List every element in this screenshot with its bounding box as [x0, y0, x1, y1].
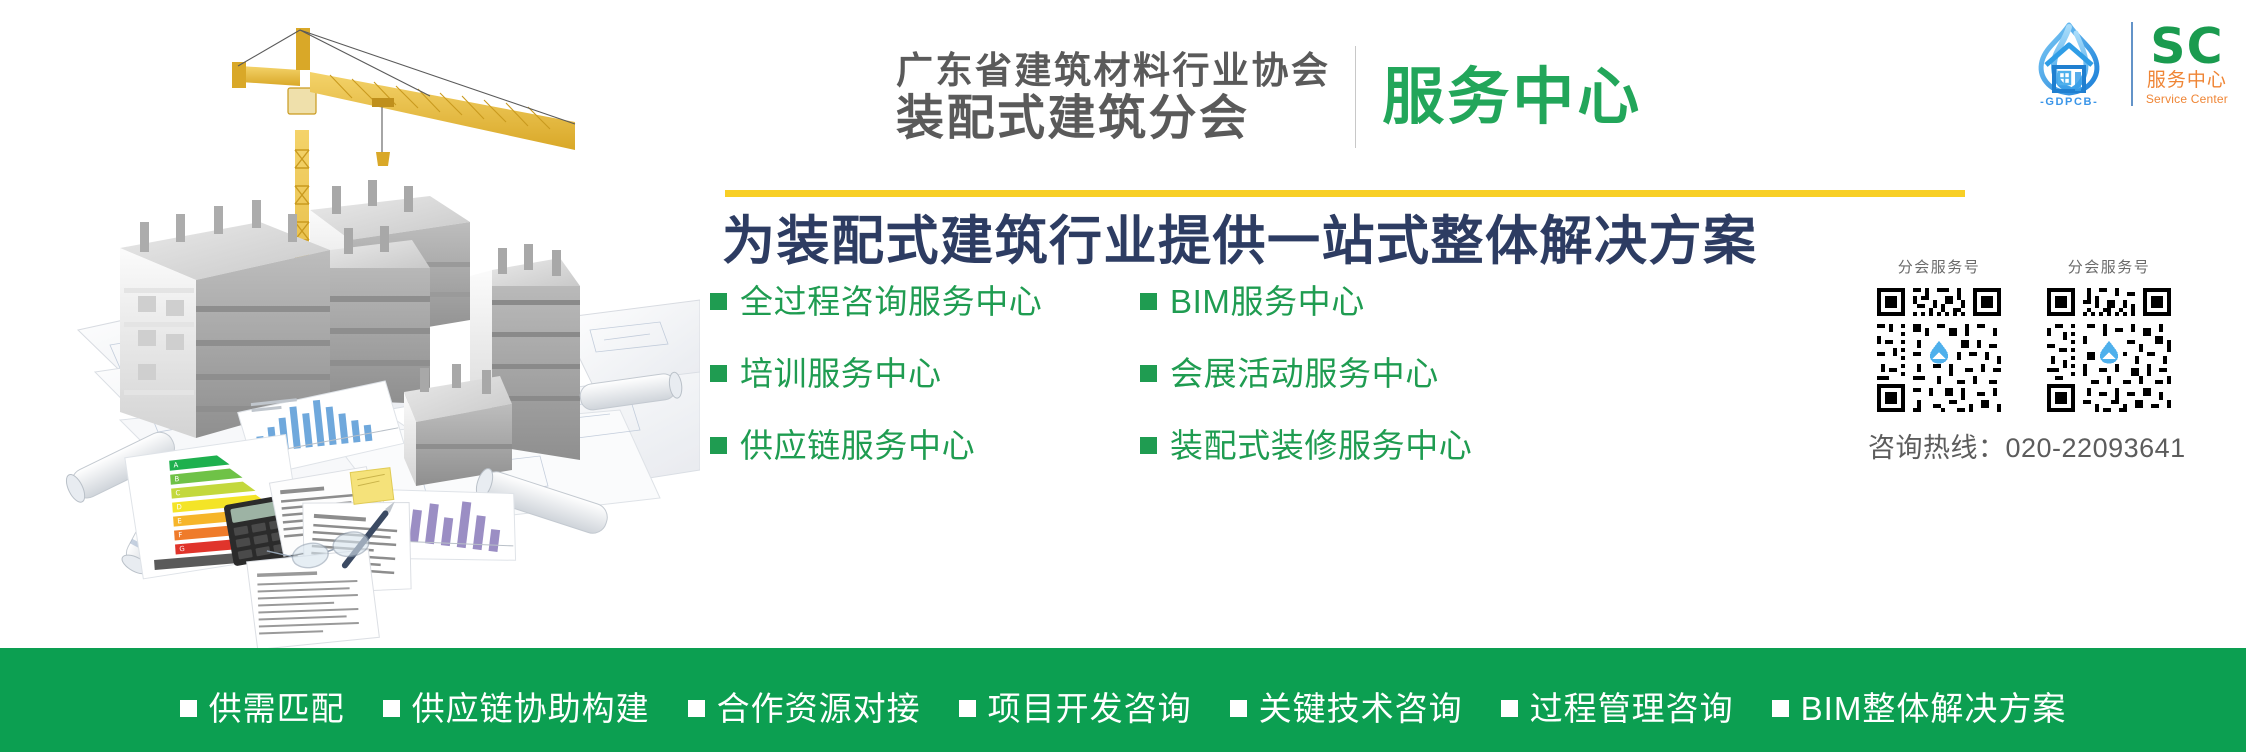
svg-text:A: A	[173, 461, 179, 469]
list-item: 会展活动服务中心	[1140, 348, 1570, 398]
sticky-note	[350, 468, 394, 505]
footer-item: 过程管理咨询	[1501, 692, 1734, 725]
qr-code-cell: 分会服务号	[1868, 256, 2010, 416]
list-item: BIM服务中心	[1140, 276, 1570, 326]
construction-illustration-graphic: AB CD EF G	[0, 0, 700, 648]
footer-item: 供应链协助构建	[383, 692, 650, 725]
list-item: 培训服务中心	[710, 348, 1140, 398]
list-item: 供应链服务中心	[710, 420, 1140, 470]
footer-items: 供需匹配 供应链协助构建 合作资源对接 项目开发咨询 关键技术咨询 过程管理咨询	[180, 676, 2067, 725]
qr-caption: 分会服务号	[2068, 256, 2151, 277]
sc-letters-label: SC	[2150, 24, 2223, 69]
content-area: -GDPCB- SC 服务中心 Service Center 广东省建筑材料行业…	[700, 0, 2246, 648]
footer-item: 关键技术咨询	[1230, 692, 1463, 725]
service-label: 全过程咨询服务中心	[740, 285, 1042, 318]
hotline-text: 咨询热线：020-22093641	[1868, 426, 2228, 465]
svg-text:G: G	[179, 545, 185, 553]
footer-item: BIM整体解决方案	[1772, 692, 2067, 725]
square-bullet-icon	[1140, 293, 1157, 310]
footer-label: 供需匹配	[209, 692, 345, 725]
gdpcb-logo: -GDPCB-	[2020, 21, 2118, 108]
service-center-heading: 服务中心	[1382, 67, 1642, 129]
list-item: 装配式装修服务中心	[1140, 420, 1570, 470]
service-label: BIM服务中心	[1170, 285, 1365, 318]
brand-logo-cluster: -GDPCB- SC 服务中心 Service Center	[2020, 12, 2228, 116]
svg-text:B: B	[174, 475, 180, 483]
svg-text:D: D	[176, 503, 182, 511]
qr-caption: 分会服务号	[1898, 256, 1981, 277]
association-line2: 装配式建筑分会	[896, 92, 1331, 147]
service-center-group: 服务中心	[1356, 40, 1642, 156]
square-bullet-icon	[959, 700, 976, 717]
banner-root: AB CD EF G	[0, 0, 2246, 752]
svg-text:E: E	[177, 517, 182, 525]
footer-label: 合作资源对接	[717, 692, 921, 725]
service-label: 装配式装修服务中心	[1170, 429, 1472, 462]
square-bullet-icon	[710, 437, 727, 454]
sc-logo: SC 服务中心 Service Center	[2146, 22, 2228, 106]
square-bullet-icon	[1772, 700, 1789, 717]
yellow-divider-rule	[725, 190, 1965, 197]
qr-code-cell: 分会服务号	[2038, 256, 2180, 416]
square-bullet-icon	[1140, 365, 1157, 382]
footer-label: 关键技术咨询	[1259, 692, 1463, 725]
qr-code-image-2[interactable]	[2043, 284, 2175, 416]
square-bullet-icon	[710, 365, 727, 382]
square-bullet-icon	[1501, 700, 1518, 717]
service-label: 会展活动服务中心	[1170, 357, 1439, 390]
footer-item: 项目开发咨询	[959, 692, 1192, 725]
sc-chinese-label: 服务中心	[2147, 70, 2227, 92]
service-label: 培训服务中心	[740, 357, 942, 390]
association-title-block: 广东省建筑材料行业协会 装配式建筑分会 服务中心	[896, 40, 1642, 156]
footer-label: BIM整体解决方案	[1801, 692, 2067, 725]
list-item: 全过程咨询服务中心	[710, 276, 1140, 326]
svg-text:F: F	[178, 531, 183, 539]
association-line1: 广东省建筑材料行业协会	[896, 49, 1331, 93]
main-tagline: 为装配式建筑行业提供一站式整体解决方案	[722, 208, 1758, 277]
service-label: 供应链服务中心	[740, 429, 975, 462]
footer-bar: 供需匹配 供应链协助构建 合作资源对接 项目开发咨询 关键技术咨询 过程管理咨询	[0, 648, 2246, 752]
qr-code-row: 分会服务号	[1868, 256, 2228, 416]
footer-label: 项目开发咨询	[988, 692, 1192, 725]
sc-english-label: Service Center	[2146, 92, 2228, 106]
service-center-list: 全过程咨询服务中心 BIM服务中心 培训服务中心 会展活动服务中心 供应链服务中…	[710, 276, 1840, 470]
gdpcb-abbr-label: -GDPCB-	[2040, 96, 2098, 108]
square-bullet-icon	[180, 700, 197, 717]
square-bullet-icon	[688, 700, 705, 717]
svg-text:C: C	[175, 489, 181, 497]
qr-code-image-1[interactable]	[1873, 284, 2005, 416]
construction-illustration: AB CD EF G	[0, 0, 700, 648]
square-bullet-icon	[1140, 437, 1157, 454]
square-bullet-icon	[383, 700, 400, 717]
qr-code-block: 分会服务号	[1868, 256, 2228, 465]
footer-label: 供应链协助构建	[412, 692, 650, 725]
flame-house-icon	[2028, 21, 2110, 97]
square-bullet-icon	[710, 293, 727, 310]
logo-divider	[2131, 22, 2133, 106]
association-name-group: 广东省建筑材料行业协会 装配式建筑分会	[896, 40, 1355, 156]
footer-item: 供需匹配	[180, 692, 345, 725]
square-bullet-icon	[1230, 700, 1247, 717]
footer-item: 合作资源对接	[688, 692, 921, 725]
footer-label: 过程管理咨询	[1530, 692, 1734, 725]
